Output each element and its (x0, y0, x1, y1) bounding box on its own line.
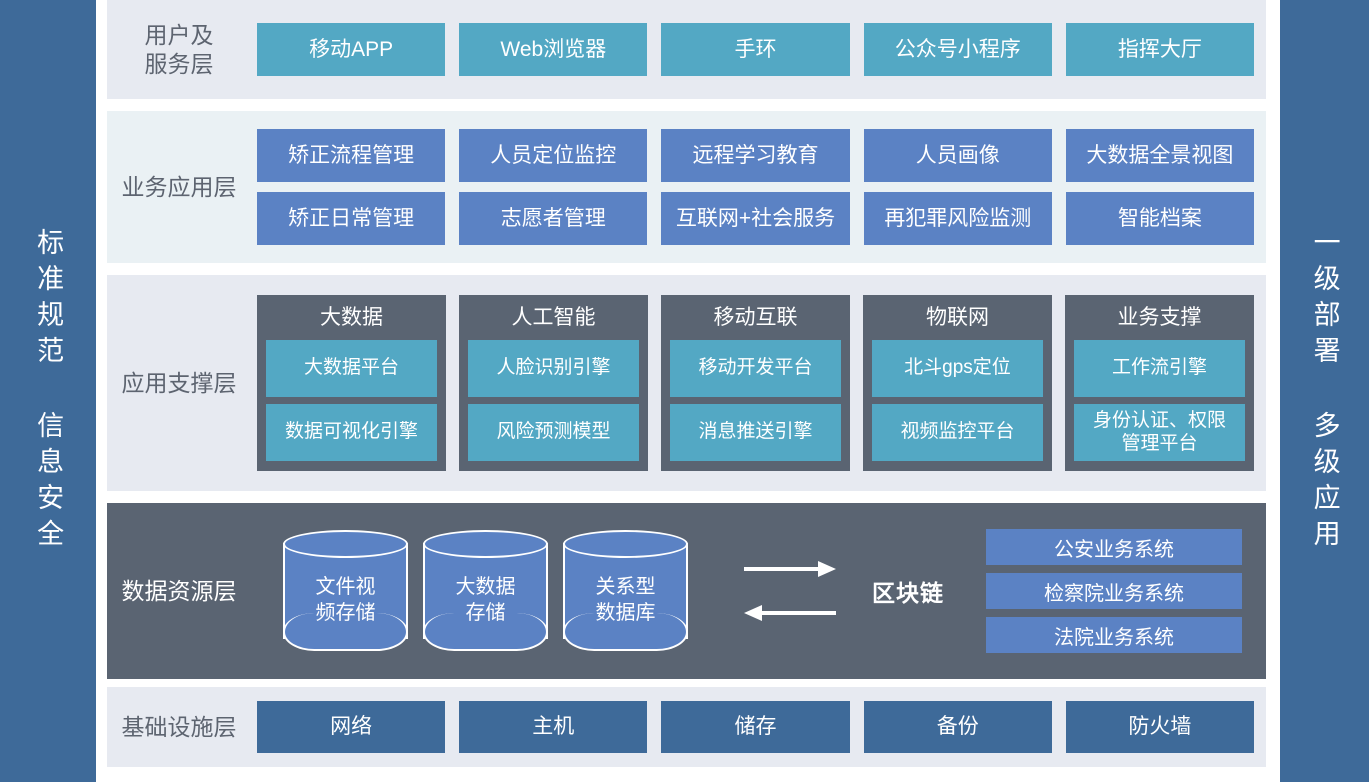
layer-infrastructure: 基础设施层 网络 主机 储存 备份 防火墙 (107, 687, 1266, 767)
panel-title-mobile-internet: 移动互联 (670, 304, 841, 333)
business-app-row-1: 矫正流程管理 人员定位监控 远程学习教育 人员画像 大数据全景视图 (257, 129, 1266, 182)
box-personnel-locating[interactable]: 人员定位监控 (459, 129, 647, 182)
right-rail: 一级部署 多级应用 (1280, 0, 1369, 782)
panel-title-iot: 物联网 (872, 304, 1043, 333)
box-correction-daily[interactable]: 矫正日常管理 (257, 192, 445, 245)
box-wristband[interactable]: 手环 (661, 23, 849, 76)
left-rail-label: 标准规范 信息安全 (34, 228, 62, 555)
layer-user-service: 用户及 服务层 移动APP Web浏览器 手环 公众号小程序 指挥大厅 (107, 0, 1266, 99)
layer-label-business-app: 业务应用层 (107, 173, 257, 202)
panel-business-support: 业务支撑 工作流引擎 身份认证、权限 管理平台 (1065, 295, 1254, 471)
chip-mobile-dev-platform[interactable]: 移动开发平台 (670, 340, 841, 397)
layer-body-user-service: 移动APP Web浏览器 手环 公众号小程序 指挥大厅 (257, 23, 1266, 76)
infrastructure-row: 网络 主机 储存 备份 防火墙 (257, 701, 1266, 753)
box-web-browser[interactable]: Web浏览器 (459, 23, 647, 76)
cylinder-label-relational-database: 关系型 数据库 (563, 530, 688, 652)
panel-title-big-data: 大数据 (266, 304, 437, 333)
box-personnel-profile[interactable]: 人员画像 (864, 129, 1052, 182)
layer-label-app-support: 应用支撑层 (107, 369, 257, 398)
cylinder-bigdata-storage[interactable]: 大数据 存储 (423, 530, 548, 652)
box-command-hall[interactable]: 指挥大厅 (1066, 23, 1254, 76)
panel-mobile-internet: 移动互联 移动开发平台 消息推送引擎 (661, 295, 850, 471)
panel-title-business-support: 业务支撑 (1074, 304, 1245, 333)
band-gap-2 (107, 263, 1266, 275)
layer-body-business-app: 矫正流程管理 人员定位监控 远程学习教育 人员画像 大数据全景视图 矫正日常管理… (257, 129, 1266, 245)
chip-risk-prediction[interactable]: 风险预测模型 (468, 404, 639, 461)
box-volunteer-mgmt[interactable]: 志愿者管理 (459, 192, 647, 245)
chip-workflow-engine[interactable]: 工作流引擎 (1074, 340, 1245, 397)
chip-message-push[interactable]: 消息推送引擎 (670, 404, 841, 461)
cylinder-label-bigdata-storage: 大数据 存储 (423, 530, 548, 652)
layer-label-infrastructure: 基础设施层 (107, 713, 257, 742)
layer-body-data-resource: 文件视 频存储 大数据 存储 关系型 数据库 (257, 503, 1266, 679)
box-network[interactable]: 网络 (257, 701, 445, 753)
cylinder-group: 文件视 频存储 大数据 存储 关系型 数据库 (283, 530, 688, 652)
app-support-panels: 大数据 大数据平台 数据可视化引擎 人工智能 人脸识别引擎 风险预测模型 移动互… (257, 295, 1266, 471)
panel-iot: 物联网 北斗gps定位 视频监控平台 (863, 295, 1052, 471)
cylinder-file-video-storage[interactable]: 文件视 频存储 (283, 530, 408, 652)
box-smart-archive[interactable]: 智能档案 (1066, 192, 1254, 245)
chip-data-visualization[interactable]: 数据可视化引擎 (266, 404, 437, 461)
box-backup[interactable]: 备份 (864, 701, 1052, 753)
system-public-security[interactable]: 公安业务系统 (986, 529, 1242, 565)
layer-business-app: 业务应用层 矫正流程管理 人员定位监控 远程学习教育 人员画像 大数据全景视图 … (107, 111, 1266, 263)
system-court[interactable]: 法院业务系统 (986, 617, 1242, 653)
chip-beidou-gps[interactable]: 北斗gps定位 (872, 340, 1043, 397)
chip-face-recognition[interactable]: 人脸识别引擎 (468, 340, 639, 397)
chip-video-monitoring[interactable]: 视频监控平台 (872, 404, 1043, 461)
layer-body-infrastructure: 网络 主机 储存 备份 防火墙 (257, 701, 1266, 753)
external-systems-list: 公安业务系统 检察院业务系统 法院业务系统 (986, 529, 1242, 653)
arrow-left-icon (744, 604, 836, 622)
band-gap-4 (107, 679, 1266, 687)
box-host[interactable]: 主机 (459, 701, 647, 753)
box-storage[interactable]: 储存 (661, 701, 849, 753)
box-bigdata-panorama[interactable]: 大数据全景视图 (1066, 129, 1254, 182)
cylinder-relational-database[interactable]: 关系型 数据库 (563, 530, 688, 652)
architecture-diagram: 标准规范 信息安全 一级部署 多级应用 用户及 服务层 移动APP Web浏览器… (0, 0, 1369, 782)
box-mobile-app[interactable]: 移动APP (257, 23, 445, 76)
system-procuratorate[interactable]: 检察院业务系统 (986, 573, 1242, 609)
band-gap-1 (107, 99, 1266, 111)
layer-stack: 用户及 服务层 移动APP Web浏览器 手环 公众号小程序 指挥大厅 业务应用… (107, 0, 1266, 782)
box-correction-process[interactable]: 矫正流程管理 (257, 129, 445, 182)
layer-label-user-service: 用户及 服务层 (107, 21, 257, 79)
box-internet-plus[interactable]: 互联网+社会服务 (661, 192, 849, 245)
panel-big-data: 大数据 大数据平台 数据可视化引擎 (257, 295, 446, 471)
blockchain-label: 区块链 (872, 574, 944, 608)
panel-title-ai: 人工智能 (468, 304, 639, 333)
layer-app-support: 应用支撑层 大数据 大数据平台 数据可视化引擎 人工智能 人脸识别引擎 风险预测… (107, 275, 1266, 491)
business-app-row-2: 矫正日常管理 志愿者管理 互联网+社会服务 再犯罪风险监测 智能档案 (257, 192, 1266, 245)
user-service-row: 移动APP Web浏览器 手环 公众号小程序 指挥大厅 (257, 23, 1266, 76)
left-rail: 标准规范 信息安全 (0, 0, 96, 782)
box-recidivism-risk[interactable]: 再犯罪风险监测 (864, 192, 1052, 245)
chip-bigdata-platform[interactable]: 大数据平台 (266, 340, 437, 397)
box-firewall[interactable]: 防火墙 (1066, 701, 1254, 753)
box-wechat-mini[interactable]: 公众号小程序 (864, 23, 1052, 76)
exchange-arrows (744, 560, 836, 622)
arrow-right-icon (744, 560, 836, 578)
panel-ai: 人工智能 人脸识别引擎 风险预测模型 (459, 295, 648, 471)
cylinder-label-file-video-storage: 文件视 频存储 (283, 530, 408, 652)
box-remote-education[interactable]: 远程学习教育 (661, 129, 849, 182)
layer-body-app-support: 大数据 大数据平台 数据可视化引擎 人工智能 人脸识别引擎 风险预测模型 移动互… (257, 295, 1266, 471)
layer-label-data-resource: 数据资源层 (107, 577, 257, 606)
chip-identity-auth[interactable]: 身份认证、权限 管理平台 (1074, 404, 1245, 461)
right-rail-label: 一级部署 多级应用 (1310, 228, 1338, 555)
band-gap-3 (107, 491, 1266, 503)
layer-data-resource: 数据资源层 文件视 频存储 大数据 存储 (107, 503, 1266, 679)
